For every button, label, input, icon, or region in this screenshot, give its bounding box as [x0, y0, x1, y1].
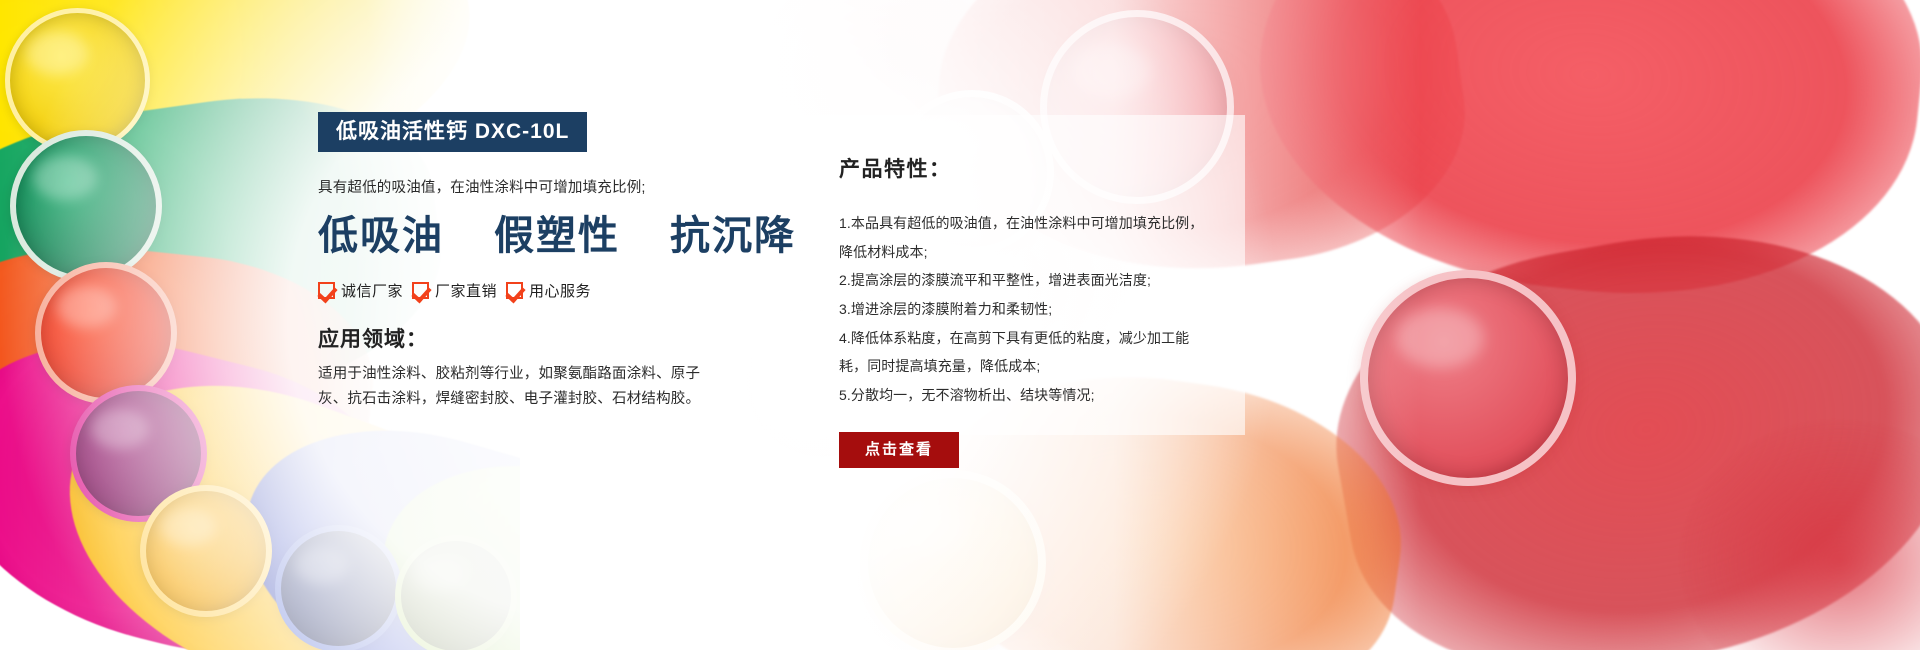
trust-badge-1: 诚信厂家: [318, 280, 403, 301]
trust-badge-2: 厂家直销: [412, 280, 497, 301]
view-details-button[interactable]: 点击查看: [839, 432, 959, 468]
trust-badge-label-3: 用心服务: [529, 280, 591, 301]
product-info-column: 低吸油活性钙 DXC-10L 具有超低的吸油值，在油性涂料中可增加填充比例; 低…: [318, 112, 738, 413]
paint-can-green: [10, 130, 162, 282]
trust-badge-3: 用心服务: [506, 280, 591, 301]
feature-item-2: 2.提高涂层的漆膜流平和平整性，增进表面光洁度;: [839, 266, 1211, 295]
features-list: 1.本品具有超低的吸油值，在油性涂料中可增加填充比例，降低材料成本; 2.提高涂…: [839, 209, 1211, 410]
paint-sweep-lime: [360, 438, 520, 650]
trust-badge-row: 诚信厂家 厂家直销 用心服务: [318, 280, 738, 301]
feature-item-4: 4.降低体系粘度，在高剪下具有更低的粘度，减少加工能耗，同时提高填充量，降低成本…: [839, 324, 1211, 381]
product-title-badge: 低吸油活性钙 DXC-10L: [318, 112, 587, 152]
checkbox-checked-icon: [412, 282, 429, 299]
feature-item-5: 5.分散均一，无不溶物析出、结块等情况;: [839, 381, 1211, 410]
paint-can-navy: [275, 525, 402, 650]
paint-blob-red-upper-right: [1239, 0, 1920, 323]
application-section-title: 应用领域：: [318, 323, 738, 353]
product-headline: 低吸油 假塑性 抗沉降: [318, 214, 738, 258]
paint-can-orange: [860, 470, 1046, 650]
features-panel-title: 产品特性：: [839, 153, 1211, 183]
application-section-body: 适用于油性涂料、胶粘剂等行业，如聚氨酯路面涂料、原子灰、抗石击涂料，焊缝密封胶、…: [318, 362, 718, 413]
trust-badge-label-1: 诚信厂家: [341, 280, 403, 301]
product-hero-banner: 低吸油活性钙 DXC-10L 具有超低的吸油值，在油性涂料中可增加填充比例; 低…: [0, 0, 1920, 650]
paint-can-red-lower: [1360, 270, 1576, 486]
paint-blob-red-lower-right: [1308, 189, 1920, 650]
paint-can-purple: [70, 385, 207, 522]
paint-can-red: [35, 262, 177, 404]
paint-blob-crimson-corner: [1680, 420, 1920, 650]
product-lead-text: 具有超低的吸油值，在油性涂料中可增加填充比例;: [318, 178, 738, 200]
headline-keyword-1: 低吸油: [318, 213, 444, 258]
feature-item-3: 3.增进涂层的漆膜附着力和柔韧性;: [839, 295, 1211, 324]
headline-keyword-2: 假塑性: [494, 213, 620, 258]
features-panel: 产品特性： 1.本品具有超低的吸油值，在油性涂料中可增加填充比例，降低材料成本;…: [805, 115, 1245, 468]
checkbox-checked-icon: [318, 282, 335, 299]
paint-sweep-blue: [213, 390, 520, 650]
feature-item-1: 1.本品具有超低的吸油值，在油性涂料中可增加填充比例，降低材料成本;: [839, 209, 1211, 266]
paint-can-olive: [395, 535, 517, 650]
checkbox-checked-icon: [506, 282, 523, 299]
paint-can-amber: [140, 485, 272, 617]
headline-keyword-3: 抗沉降: [670, 213, 796, 258]
paint-can-yellow: [5, 8, 150, 153]
trust-badge-label-2: 厂家直销: [435, 280, 497, 301]
